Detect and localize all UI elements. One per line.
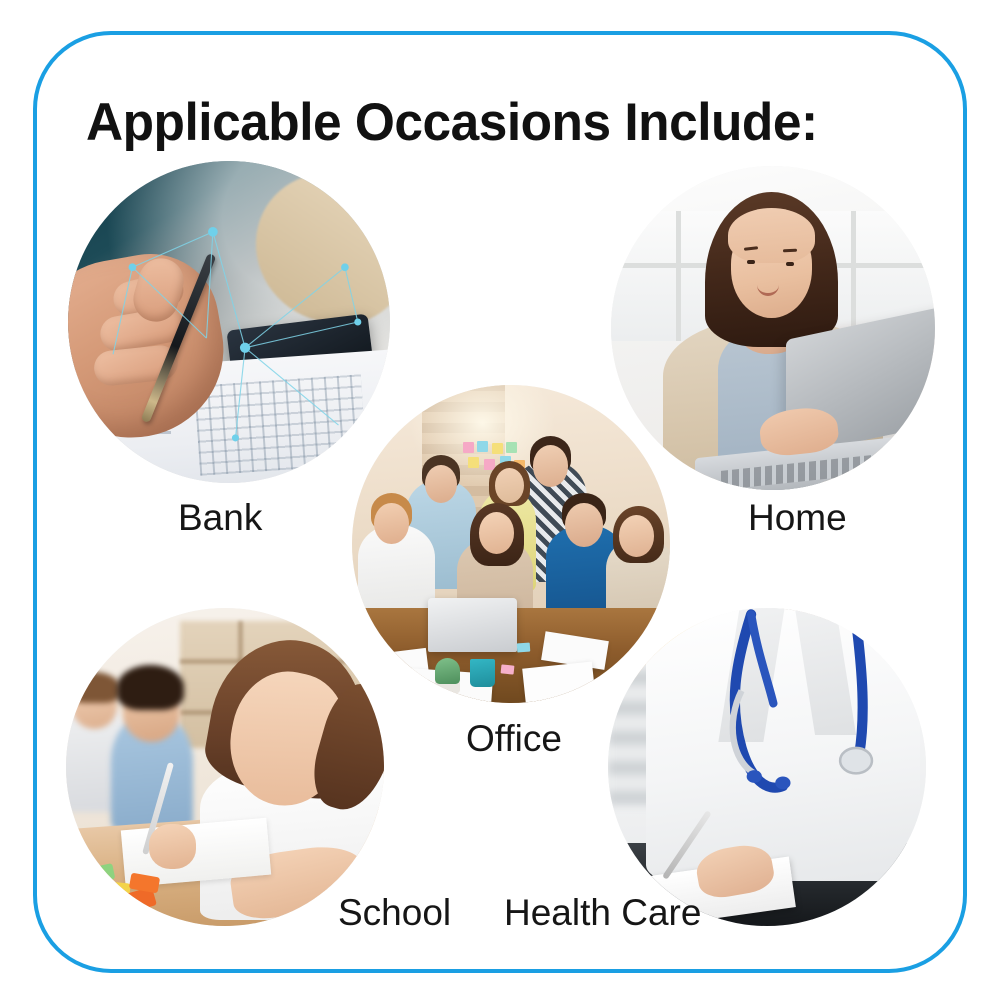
- infographic-canvas: Applicable Occasions Include:: [0, 0, 1000, 1000]
- school-photo: [66, 608, 384, 926]
- occasion-label-school: School: [338, 892, 451, 934]
- occasion-label-bank: Bank: [178, 497, 262, 539]
- occasion-image-school: [66, 608, 384, 926]
- occasion-label-home: Home: [748, 497, 847, 539]
- health-care-photo: [608, 608, 926, 926]
- occasion-label-office: Office: [466, 718, 562, 760]
- network-overlay-icon: [68, 161, 390, 483]
- occasion-image-health-care: [608, 608, 926, 926]
- page-title: Applicable Occasions Include:: [86, 92, 818, 153]
- occasion-label-health-care: Health Care: [504, 892, 701, 934]
- occasion-image-bank: [68, 161, 390, 483]
- bank-photo: [68, 161, 390, 483]
